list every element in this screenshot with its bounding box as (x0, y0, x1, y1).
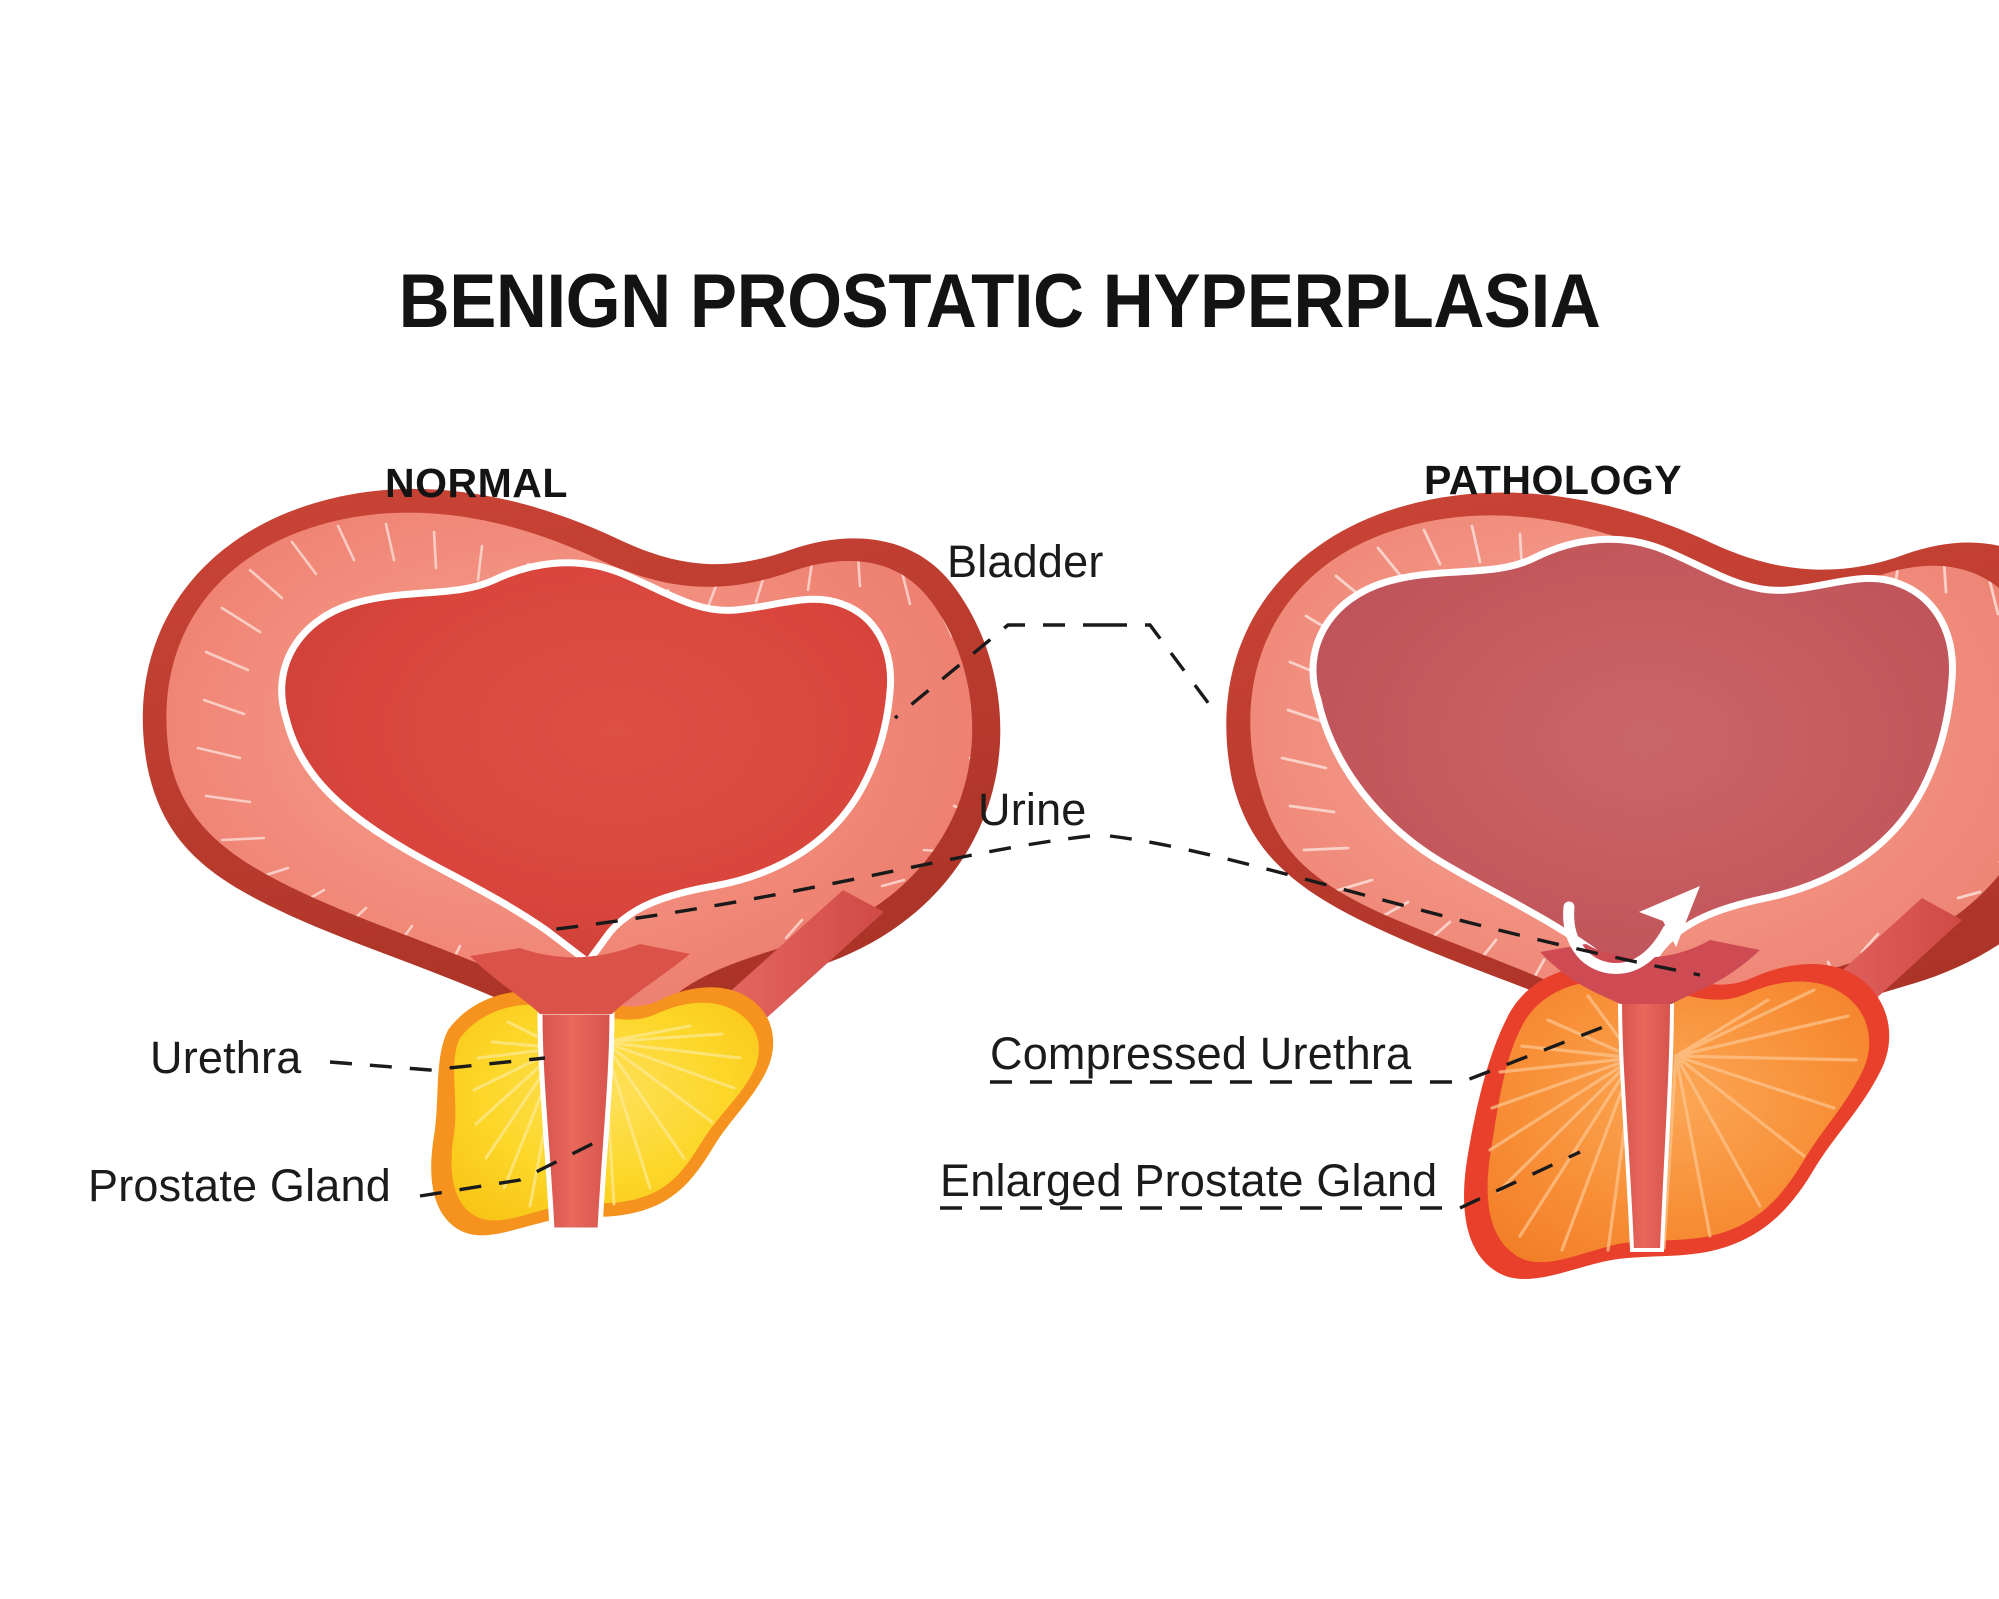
prostate-striations-enlarged (1490, 990, 1856, 1250)
mucosa-striations-pathology (1282, 526, 1999, 1044)
prostate-striations-normal (474, 1022, 740, 1212)
bladder-neck-pathology (1540, 940, 1760, 1004)
label-bladder: Bladder (947, 536, 1104, 588)
bladder-lumen-pathology (1313, 539, 1953, 984)
leader-urethra (330, 1058, 545, 1070)
bladder-wall-normal (143, 489, 1001, 1082)
leader-urine-left (548, 836, 1090, 930)
duct-tube-normal (516, 890, 884, 1208)
prostate-gland-normal-fill (452, 1003, 759, 1221)
column-header-normal: NORMAL (385, 460, 568, 507)
prostate-gland-normal-border (431, 987, 773, 1235)
normal-prostate-group (431, 987, 773, 1235)
urethra-normal-group (470, 944, 690, 1230)
bladder-mucosa-normal (166, 513, 972, 1052)
leader-bladder-right (1105, 625, 1215, 712)
prostate-gland-enlarged-fill (1488, 981, 1870, 1262)
bladder-wall-pathology (1226, 493, 1999, 1102)
urethra-tube-compressed (1620, 1000, 1672, 1250)
label-urine: Urine (978, 784, 1087, 836)
mucosa-striations-normal (198, 524, 992, 1028)
compressed-urethra-group (1540, 940, 1760, 1250)
pathology-bladder-group (1226, 493, 1999, 1102)
label-prostate-gland: Prostate Gland (88, 1160, 391, 1212)
normal-bladder-group (143, 489, 1001, 1082)
label-compressed-urethra: Compressed Urethra (990, 1028, 1411, 1080)
label-urethra: Urethra (150, 1032, 301, 1084)
bladder-lumen-normal (282, 563, 891, 962)
column-header-pathology: PATHOLOGY (1424, 457, 1682, 504)
urethra-tube-normal (540, 1012, 612, 1230)
bladder-neck-normal (470, 944, 690, 1014)
duct-tube-pathology (1596, 898, 1962, 1218)
page-title: BENIGN PROSTATIC HYPERPLASIA (70, 258, 1929, 345)
illustration-canvas: BENIGN PROSTATIC HYPERPLASIA NORMAL PATH… (0, 0, 1999, 1599)
label-enlarged-prostate-gland: Enlarged Prostate Gland (940, 1155, 1437, 1207)
leader-bladder-left (895, 625, 1105, 718)
prostate-gland-enlarged-border (1464, 964, 1889, 1279)
leader-lines (330, 625, 1700, 1208)
leader-prostate-gland (420, 1140, 600, 1196)
urine-flow-arrow-icon (1569, 886, 1700, 969)
bladder-mucosa-pathology (1250, 515, 1999, 1068)
enlarged-prostate-group (1464, 964, 1889, 1279)
leader-urine-right (1110, 836, 1700, 975)
